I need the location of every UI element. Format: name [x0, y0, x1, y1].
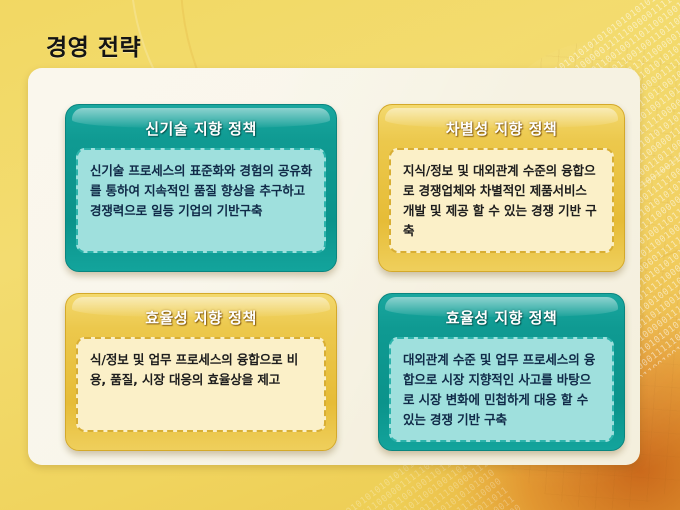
card-body-text: 대외관계 수준 및 업무 프로세스의 융합으로 시장 지향적인 사고를 바탕으로… [389, 337, 614, 442]
card-title: 효율성 지향 정책 [379, 294, 624, 328]
card-title: 차별성 지향 정책 [379, 105, 624, 139]
card-title: 효율성 지향 정책 [66, 294, 336, 328]
card-body-text: 신기술 프로세스의 표준화와 경험의 공유화를 통하여 지속적인 품질 향상을 … [76, 148, 326, 253]
strategy-card-efficiency-right[interactable]: 효율성 지향 정책 대외관계 수준 및 업무 프로세스의 융합으로 시장 지향적… [378, 293, 625, 451]
page-title: 경영 전략 [46, 28, 141, 62]
card-body-text: 식/정보 및 업무 프로세스의 융합으로 비용, 품질, 시장 대응의 효율상을… [76, 337, 326, 432]
presentation-slide: 0101010101010101010101010101010101010101… [0, 0, 680, 510]
card-body-text: 지식/정보 및 대외관계 수준의 융합으로 경쟁업체와 차별적인 제품서비스 개… [389, 148, 614, 253]
strategy-card-efficiency-left[interactable]: 효율성 지향 정책 식/정보 및 업무 프로세스의 융합으로 비용, 품질, 시… [65, 293, 337, 451]
strategy-card-new-technology[interactable]: 신기술 지향 정책 신기술 프로세스의 표준화와 경험의 공유화를 통하여 지속… [65, 104, 337, 272]
card-title: 신기술 지향 정책 [66, 105, 336, 139]
strategy-card-differentiation[interactable]: 차별성 지향 정책 지식/정보 및 대외관계 수준의 융합으로 경쟁업체와 차별… [378, 104, 625, 272]
